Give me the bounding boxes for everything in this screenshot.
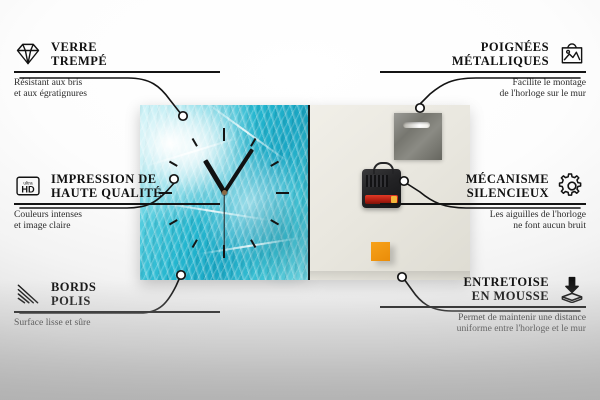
diamond-gem-icon [14, 40, 42, 68]
ultra-hd-badge-icon: ultra HD [14, 172, 42, 200]
clock-center-pin [222, 190, 227, 195]
callout-impression-haute-qualite: ultra HD IMPRESSION DE HAUTE QUALITÉ Cou… [14, 172, 220, 231]
callout-mecanisme-silencieux: MÉCANISME SILENCIEUX Les aiguilles de l'… [380, 172, 586, 231]
callout-rule [380, 203, 586, 205]
clock-tick [270, 219, 279, 225]
callout-sub-line2: de l'horloge sur le mur [500, 88, 586, 99]
callout-title-line1: BORDS [51, 280, 96, 294]
callout-verre-trempe: VERRE TREMPÉ Résistant aux bris et aux é… [14, 40, 220, 99]
callout-sub-line2: uniforme entre l'horloge et le mur [457, 323, 586, 334]
infographic-canvas: VERRE TREMPÉ Résistant aux bris et aux é… [0, 0, 600, 400]
foam-spacer [371, 242, 390, 261]
callout-poignees-metalliques: POIGNÉES MÉTALLIQUES Facilite le montage… [380, 40, 586, 99]
gear-icon [558, 172, 586, 200]
callout-sub-line2: et aux égratignures [14, 88, 87, 99]
callout-sub-line2: ne font aucun bruit [513, 220, 586, 231]
callout-sub-line2: et image claire [14, 220, 70, 231]
callout-title-line1: MÉCANISME [466, 172, 549, 186]
callout-title-line2: POLIS [51, 294, 91, 308]
callout-rule [14, 203, 220, 205]
callout-bords-polis: BORDS POLIS Surface lisse et sûre [14, 280, 220, 328]
callout-sub-line1: Couleurs intenses [14, 209, 82, 220]
callout-rule [14, 311, 220, 313]
callout-title-line2: EN MOUSSE [472, 289, 549, 303]
callout-title-line1: VERRE [51, 40, 97, 54]
callout-rule [14, 71, 220, 73]
callout-sub-line1: Les aiguilles de l'horloge [490, 209, 586, 220]
clock-tick [250, 137, 256, 146]
clock-tick [192, 137, 198, 146]
hanger-slot [403, 122, 430, 128]
callout-sub-line1: Permet de maintenir une distance [458, 312, 586, 323]
callout-rule [380, 71, 586, 73]
clock-tick [250, 239, 256, 248]
callout-title-line2: SILENCIEUX [467, 186, 549, 200]
callout-title-line2: MÉTALLIQUES [452, 54, 549, 68]
callout-sub-line1: Facilite le montage [512, 77, 586, 88]
polished-edges-icon [14, 280, 42, 308]
clock-tick [270, 160, 279, 166]
callout-sub-line1: Surface lisse et sûre [14, 317, 90, 328]
clock-tick [192, 239, 198, 248]
callout-title-line1: POIGNÉES [481, 40, 549, 54]
clock-second-hand [223, 193, 224, 247]
ultra-hd-large-text: HD [21, 184, 35, 194]
foam-spacer-arrow-icon [558, 275, 586, 303]
clock-tick [223, 128, 225, 141]
clock-minute-hand [222, 148, 254, 194]
clock-tick [169, 160, 178, 166]
callout-title-line2: TREMPÉ [51, 54, 107, 68]
callout-entretoise-en-mousse: ENTRETOISE EN MOUSSE Permet de maintenir… [380, 275, 586, 334]
callout-title-line2: HAUTE QUALITÉ [51, 186, 162, 200]
callout-rule [380, 306, 586, 308]
callout-sub-line1: Résistant aux bris [14, 77, 82, 88]
clock-tick [276, 192, 289, 194]
wall-hanger-frame-icon [558, 40, 586, 68]
metal-hanger-bracket [394, 113, 442, 160]
callout-title-line1: ENTRETOISE [463, 275, 549, 289]
callout-title-line1: IMPRESSION DE [51, 172, 157, 186]
